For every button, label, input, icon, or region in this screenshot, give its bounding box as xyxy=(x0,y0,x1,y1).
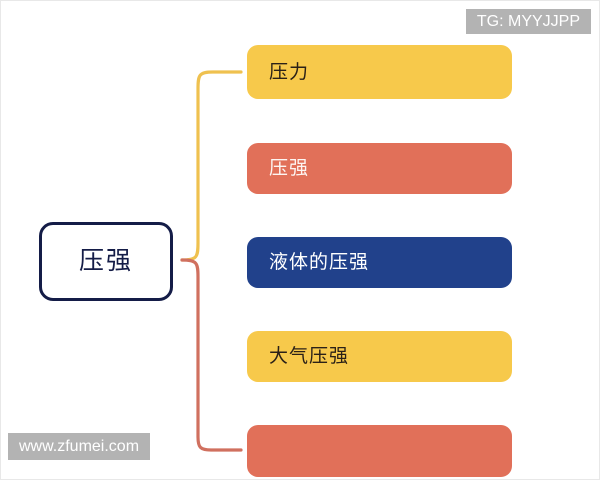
root-node[interactable]: 压强 xyxy=(39,222,173,301)
connector-upper-yellow xyxy=(182,72,241,260)
branch-node-4-label: 大气压强 xyxy=(247,347,349,366)
watermark-bottom-left: www.zfumei.com xyxy=(8,433,150,460)
branch-node-3-label: 液体的压强 xyxy=(247,253,369,272)
branch-node-2[interactable]: 压强 xyxy=(247,143,512,194)
mindmap-canvas: 压强 压力 压强 液体的压强 大气压强 TG: MYYJJPP www.zfum… xyxy=(0,0,600,480)
branch-node-1-label: 压力 xyxy=(247,63,309,82)
branch-node-3[interactable]: 液体的压强 xyxy=(247,237,512,288)
branch-node-5-partial[interactable] xyxy=(247,425,512,477)
root-node-label: 压强 xyxy=(79,249,133,274)
watermark-bottom-left-text: www.zfumei.com xyxy=(19,439,139,455)
connector-lower-coral xyxy=(182,260,241,450)
branch-node-2-label: 压强 xyxy=(247,159,309,178)
watermark-top-right-text: TG: MYYJJPP xyxy=(477,14,580,30)
branch-node-4[interactable]: 大气压强 xyxy=(247,331,512,382)
watermark-top-right: TG: MYYJJPP xyxy=(466,9,591,34)
branch-node-1[interactable]: 压力 xyxy=(247,45,512,99)
